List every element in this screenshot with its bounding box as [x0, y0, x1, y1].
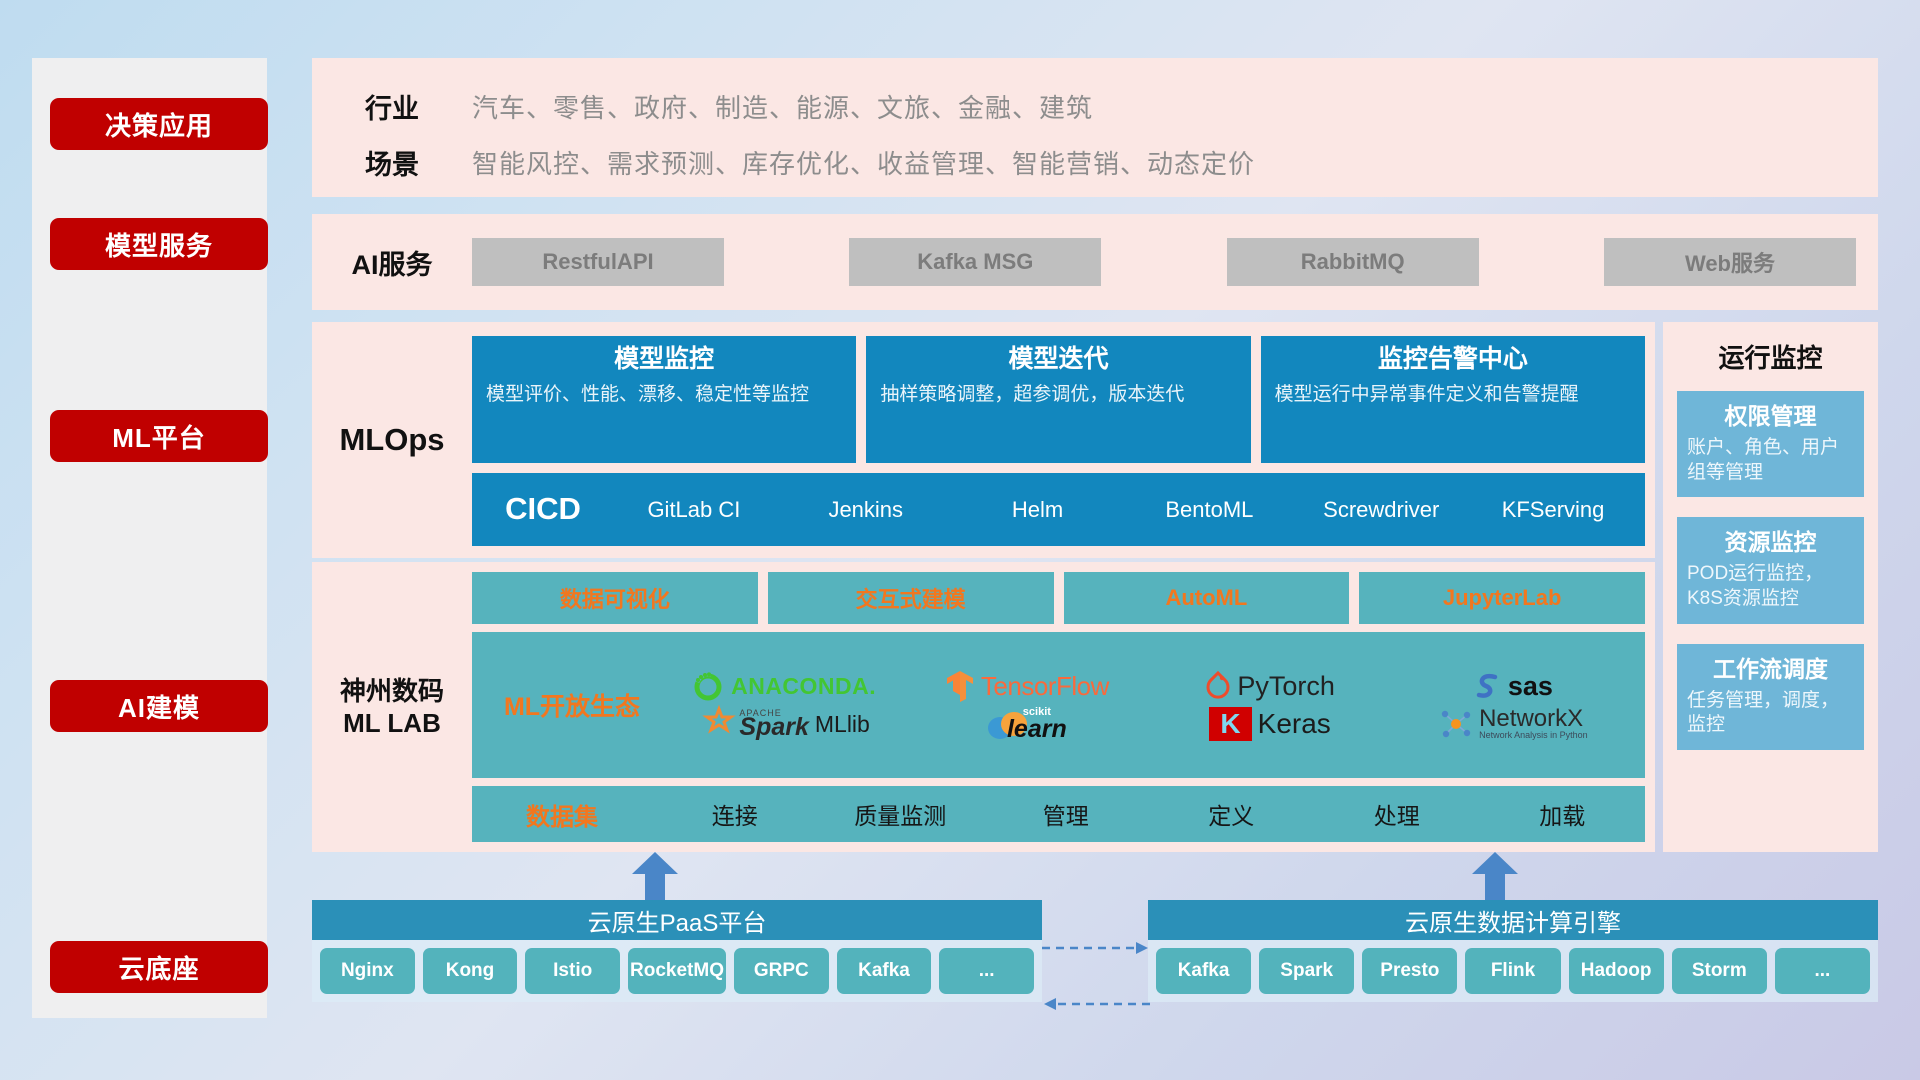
ai-modeling-panel: 神州数码 ML LAB 数据可视化 交互式建模 AutoML JupyterLa…: [312, 562, 1655, 852]
mlops-card-model-monitoring[interactable]: 模型监控 模型评价、性能、漂移、稳定性等监控: [472, 336, 856, 463]
monitoring-card-resource[interactable]: 资源监控 POD运行监控，K8S资源监控: [1677, 517, 1864, 623]
tool-chip-jupyterlab[interactable]: JupyterLab: [1359, 572, 1645, 624]
dataset-item-load[interactable]: 加载: [1480, 797, 1646, 831]
sas-icon: [1474, 671, 1502, 701]
ai-service-panel: AI服务 RestfulAPI Kafka MSG RabbitMQ Web服务: [312, 214, 1878, 310]
cloud-chip-nginx[interactable]: Nginx: [320, 948, 415, 994]
dataset-item-connect[interactable]: 连接: [652, 797, 818, 831]
cicd-item-bentoml[interactable]: BentoML: [1123, 497, 1295, 522]
sidebar-item-ml-platform[interactable]: ML平台: [50, 410, 268, 462]
cicd-bar: CICD GitLab CI Jenkins Helm BentoML Scre…: [472, 473, 1645, 546]
networkx-icon: [1439, 707, 1473, 741]
ml-lab-label-cn: 神州数码: [340, 675, 444, 708]
industry-label: 行业: [312, 87, 472, 126]
pytorch-logo: PyTorch: [1149, 670, 1392, 702]
ml-ecosystem-row: ML开放生态 ANACONDA.: [472, 632, 1645, 778]
spark-mllib-logo: APACHE Spark MLlib: [662, 707, 905, 741]
dataset-label: 数据集: [472, 797, 652, 832]
cloud-chip-kafka[interactable]: Kafka: [837, 948, 932, 994]
card-title: 权限管理: [1687, 397, 1854, 431]
sidebar-item-label: 云底座: [118, 949, 199, 986]
card-title: 工作流调度: [1687, 650, 1854, 684]
engine-chip-kafka[interactable]: Kafka: [1156, 948, 1251, 994]
card-desc: 模型运行中异常事件定义和告警提醒: [1275, 382, 1631, 408]
ai-service-items: RestfulAPI Kafka MSG RabbitMQ Web服务: [472, 238, 1878, 286]
sidebar-item-cloud-foundation[interactable]: 云底座: [50, 941, 268, 993]
tensorflow-logo: TensorFlow: [905, 669, 1148, 703]
engine-chip-spark[interactable]: Spark: [1259, 948, 1354, 994]
dataset-item-quality[interactable]: 质量监测: [818, 797, 984, 831]
sidebar-item-label: ML平台: [112, 418, 206, 455]
cloud-chip-istio[interactable]: Istio: [525, 948, 620, 994]
tool-chip-interactive-modeling[interactable]: 交互式建模: [768, 572, 1054, 624]
sidebar-item-model-service[interactable]: 模型服务: [50, 218, 268, 270]
cicd-item-screwdriver[interactable]: Screwdriver: [1295, 497, 1467, 522]
card-desc: 任务管理，调度，监控: [1687, 689, 1854, 738]
spark-wordmark: Spark: [739, 717, 808, 738]
ml-ecosystem-logos: ANACONDA. TensorFlow PyTorch: [662, 668, 1635, 742]
scikit-learn-logo: scikit learn: [905, 706, 1148, 742]
cloud-paas-title: 云原生PaaS平台: [312, 900, 1042, 940]
card-title: 资源监控: [1687, 523, 1854, 557]
tool-chip-automl[interactable]: AutoML: [1064, 572, 1350, 624]
cloud-data-engine-group: 云原生数据计算引擎 Kafka Spark Presto Flink Hadoo…: [1148, 900, 1878, 1002]
ml-ecosystem-label: ML开放生态: [482, 687, 662, 723]
anaconda-wordmark: ANACONDA.: [731, 673, 876, 700]
keras-logo: K Keras: [1149, 707, 1392, 741]
sidebar-item-label: 模型服务: [105, 226, 213, 263]
sas-wordmark: sas: [1508, 671, 1553, 702]
card-desc: POD运行监控，K8S资源监控: [1687, 562, 1854, 611]
ml-lab-label-en: ML LAB: [343, 707, 441, 740]
cloud-paas-chips: Nginx Kong Istio RocketMQ GRPC Kafka ...: [312, 940, 1042, 1002]
decision-application-panel: 行业 汽车、零售、政府、制造、能源、文旅、金融、建筑 场景 智能风控、需求预测、…: [312, 58, 1878, 197]
ai-service-chip-rabbitmq[interactable]: RabbitMQ: [1227, 238, 1479, 286]
card-desc: 模型评价、性能、漂移、稳定性等监控: [486, 382, 842, 408]
runtime-monitoring-panel: 运行监控 权限管理 账户、角色、用户组等管理 资源监控 POD运行监控，K8S资…: [1663, 322, 1878, 852]
sidebar-item-ai-modeling[interactable]: AI建模: [50, 680, 268, 732]
monitoring-card-permission[interactable]: 权限管理 账户、角色、用户组等管理: [1677, 391, 1864, 497]
industry-row: 行业 汽车、零售、政府、制造、能源、文旅、金融、建筑: [312, 80, 1878, 132]
card-desc: 抽样策略调整，超参调优，版本迭代: [880, 382, 1236, 408]
card-title: 模型迭代: [880, 346, 1236, 374]
spark-wordmark-group: APACHE Spark: [739, 710, 808, 739]
card-title: 监控告警中心: [1275, 346, 1631, 374]
tensorflow-icon: [945, 669, 975, 703]
paas-up-arrow-icon: [630, 852, 680, 900]
sidebar-item-label: 决策应用: [105, 106, 213, 143]
modeling-tool-row: 数据可视化 交互式建模 AutoML JupyterLab: [472, 572, 1645, 624]
engine-chip-hadoop[interactable]: Hadoop: [1569, 948, 1664, 994]
dataset-item-manage[interactable]: 管理: [983, 797, 1149, 831]
ai-service-chip-restfulapi[interactable]: RestfulAPI: [472, 238, 724, 286]
monitoring-title: 运行监控: [1677, 338, 1864, 375]
card-title: 模型监控: [486, 346, 842, 374]
networkx-logo: NetworkX Network Analysis in Python: [1392, 707, 1635, 741]
cloud-data-engine-title: 云原生数据计算引擎: [1148, 900, 1878, 940]
engine-chip-storm[interactable]: Storm: [1672, 948, 1767, 994]
learn-wordmark: learn: [1007, 718, 1067, 741]
scenario-label: 场景: [312, 143, 472, 182]
anaconda-logo: ANACONDA.: [662, 669, 905, 703]
dataset-items: 连接 质量监测 管理 定义 处理 加载: [652, 797, 1645, 831]
cloud-chip-rocketmq[interactable]: RocketMQ: [628, 948, 726, 994]
sidebar-item-decision-application[interactable]: 决策应用: [50, 98, 268, 150]
dataset-item-process[interactable]: 处理: [1314, 797, 1480, 831]
cloud-chip-kong[interactable]: Kong: [423, 948, 518, 994]
engine-chip-flink[interactable]: Flink: [1465, 948, 1560, 994]
cloud-paas-group: 云原生PaaS平台 Nginx Kong Istio RocketMQ GRPC…: [312, 900, 1042, 1002]
monitoring-card-workflow[interactable]: 工作流调度 任务管理，调度，监控: [1677, 644, 1864, 750]
engine-chip-presto[interactable]: Presto: [1362, 948, 1457, 994]
mlops-card-model-iteration[interactable]: 模型迭代 抽样策略调整，超参调优，版本迭代: [866, 336, 1250, 463]
cicd-item-gitlab-ci[interactable]: GitLab CI: [608, 497, 780, 522]
networkx-wordmark-group: NetworkX Network Analysis in Python: [1479, 708, 1588, 739]
ai-service-chip-kafka-msg[interactable]: Kafka MSG: [849, 238, 1101, 286]
ai-service-label: AI服务: [312, 243, 472, 282]
networkx-wordmark: NetworkX: [1479, 708, 1588, 731]
cloud-chip-more[interactable]: ...: [939, 948, 1034, 994]
cicd-item-jenkins[interactable]: Jenkins: [780, 497, 952, 522]
layer-rail: 决策应用 模型服务 ML平台 AI建模 云底座: [32, 58, 267, 1018]
card-desc: 账户、角色、用户组等管理: [1687, 436, 1854, 485]
networkx-tagline: Network Analysis in Python: [1479, 731, 1588, 740]
tensorflow-wordmark: TensorFlow: [981, 671, 1109, 702]
sidebar-item-label: AI建模: [118, 688, 200, 725]
pytorch-wordmark: PyTorch: [1237, 671, 1335, 702]
bidirectional-dashed-link-icon: [1042, 938, 1150, 1018]
pytorch-icon: [1205, 670, 1231, 702]
ai-service-chip-web-service[interactable]: Web服务: [1604, 238, 1856, 286]
cicd-item-helm[interactable]: Helm: [952, 497, 1124, 522]
mlops-body: 模型监控 模型评价、性能、漂移、稳定性等监控 模型迭代 抽样策略调整，超参调优，…: [472, 322, 1655, 558]
keras-mark: K: [1209, 707, 1251, 741]
scenario-row: 场景 智能风控、需求预测、库存优化、收益管理、智能营销、动态定价: [312, 136, 1878, 188]
mlops-card-alert-center[interactable]: 监控告警中心 模型运行中异常事件定义和告警提醒: [1261, 336, 1645, 463]
mlops-panel: MLOps 模型监控 模型评价、性能、漂移、稳定性等监控 模型迭代 抽样策略调整…: [312, 322, 1655, 558]
scikit-learn-wordmark-group: scikit learn: [1007, 708, 1067, 740]
engine-chip-more[interactable]: ...: [1775, 948, 1870, 994]
spark-star-icon: [697, 707, 733, 741]
anaconda-icon: [691, 669, 725, 703]
cloud-data-engine-chips: Kafka Spark Presto Flink Hadoop Storm ..…: [1148, 940, 1878, 1002]
ml-lab-label: 神州数码 ML LAB: [312, 562, 472, 852]
ai-modeling-body: 数据可视化 交互式建模 AutoML JupyterLab ML开放生态 ANA…: [472, 562, 1655, 852]
scenario-values: 智能风控、需求预测、库存优化、收益管理、智能营销、动态定价: [472, 144, 1255, 181]
dataset-row: 数据集 连接 质量监测 管理 定义 处理 加载: [472, 786, 1645, 842]
dataset-item-define[interactable]: 定义: [1149, 797, 1315, 831]
sas-logo: sas: [1392, 671, 1635, 702]
cicd-item-kfserving[interactable]: KFServing: [1467, 497, 1639, 522]
tool-chip-data-visualization[interactable]: 数据可视化: [472, 572, 758, 624]
keras-wordmark: Keras: [1258, 708, 1331, 740]
cicd-label: CICD: [478, 491, 608, 527]
data-engine-up-arrow-icon: [1470, 852, 1520, 900]
mlops-card-group: 模型监控 模型评价、性能、漂移、稳定性等监控 模型迭代 抽样策略调整，超参调优，…: [472, 336, 1645, 463]
industry-values: 汽车、零售、政府、制造、能源、文旅、金融、建筑: [472, 88, 1093, 125]
cicd-items: GitLab CI Jenkins Helm BentoML Screwdriv…: [608, 497, 1639, 522]
mlops-label: MLOps: [312, 322, 472, 558]
cloud-chip-grpc[interactable]: GRPC: [734, 948, 829, 994]
mllib-wordmark: MLlib: [815, 711, 870, 738]
